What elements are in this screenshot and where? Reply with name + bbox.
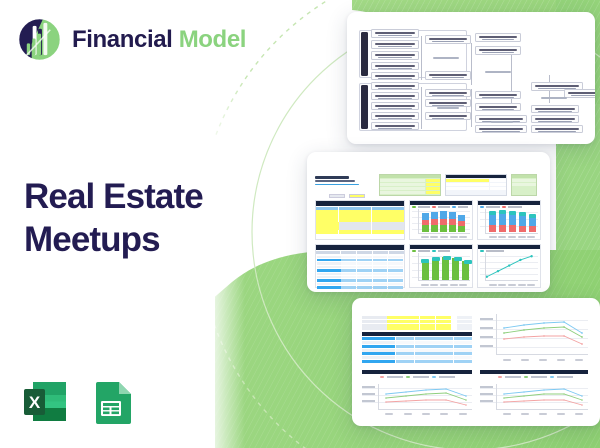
income-statement-rail <box>361 32 368 76</box>
kpi-table-left <box>511 174 537 196</box>
flow-node <box>531 115 579 123</box>
cumulative-cash-chart-panel <box>477 244 541 288</box>
flow-node <box>425 71 471 80</box>
plot-area <box>412 209 470 236</box>
case-inputs-panel <box>315 200 405 240</box>
cash-flow-chart-panel <box>409 244 473 288</box>
flow-node <box>371 29 419 38</box>
chart-title-bar <box>480 370 588 374</box>
plot-area <box>480 253 538 284</box>
flow-node <box>371 82 419 90</box>
connector <box>471 43 472 85</box>
brand-logo: Financial Model <box>18 18 246 61</box>
sensitivity-comparison-chart <box>362 384 472 418</box>
plot-area <box>412 253 470 284</box>
brand-name-part1: Financial <box>72 26 179 53</box>
scenario-comparison-chart <box>480 384 588 418</box>
connector <box>471 89 472 127</box>
flow-node <box>371 62 419 70</box>
ratio-label <box>437 107 459 109</box>
flow-node <box>371 51 419 60</box>
flow-node <box>371 92 419 100</box>
flow-node <box>475 33 521 42</box>
flow-node <box>531 125 583 133</box>
balance-sheet-rail <box>361 85 368 129</box>
ratio-label <box>485 71 511 73</box>
flow-node <box>371 102 419 110</box>
assumptions-table <box>379 174 441 196</box>
microsoft-excel-icon: X <box>20 377 70 427</box>
svg-text:X: X <box>29 393 41 412</box>
flow-node <box>475 103 521 111</box>
dashboard-canvas <box>307 152 550 292</box>
flow-node <box>425 89 471 97</box>
flow-node <box>475 91 521 99</box>
revenue-ebitda-chart <box>480 314 588 366</box>
dashboard-button[interactable] <box>329 194 345 198</box>
ratio-label <box>541 97 567 99</box>
flow-node <box>371 72 419 80</box>
summary-table <box>445 174 507 196</box>
flow-node <box>371 112 419 120</box>
pnl-summary-chart-panel <box>477 200 541 240</box>
dashboard-title-block <box>315 176 361 185</box>
flow-node <box>371 40 419 49</box>
line-charts-screenshot[interactable] <box>352 298 600 426</box>
page-title: Real Estate Meetups <box>24 176 274 261</box>
flow-node <box>425 99 471 107</box>
google-sheets-icon <box>86 377 136 427</box>
cost-structure-chart-panel <box>409 200 473 240</box>
flow-node <box>425 35 471 44</box>
scenario-input-table <box>362 316 472 363</box>
flow-node <box>475 125 527 133</box>
flow-node <box>531 105 579 113</box>
dashboard-input-cell[interactable] <box>349 194 365 198</box>
stacked-bars <box>422 210 465 232</box>
chart-title-bar <box>362 370 472 374</box>
line-charts-canvas <box>352 298 600 426</box>
chart-legend <box>498 376 573 378</box>
headline-line-2: Meetups <box>24 219 274 262</box>
financial-dashboard-screenshot[interactable] <box>307 152 550 292</box>
connector <box>421 87 422 129</box>
connector <box>511 55 512 107</box>
flowchart-canvas <box>359 27 589 132</box>
brand-name: Financial Model <box>72 26 246 54</box>
promo-banner: Financial Model Real Estate Meetups X <box>0 0 600 448</box>
ratio-label <box>433 57 459 59</box>
headline-line-1: Real Estate <box>24 176 274 219</box>
flow-node <box>371 122 419 130</box>
circle-bar-chart-logo-icon <box>18 18 61 61</box>
ratio-label <box>491 121 513 123</box>
chart-legend <box>380 376 455 378</box>
file-format-icons: X <box>20 377 136 427</box>
brand-name-part2: Model <box>179 26 246 53</box>
connector <box>421 36 422 80</box>
flow-node <box>425 112 471 120</box>
flow-node <box>475 46 521 55</box>
plot-area <box>480 209 538 236</box>
dupont-flowchart-screenshot[interactable] <box>347 12 595 144</box>
cost-structure-table-panel <box>315 244 405 288</box>
flow-node-roe <box>564 89 595 98</box>
